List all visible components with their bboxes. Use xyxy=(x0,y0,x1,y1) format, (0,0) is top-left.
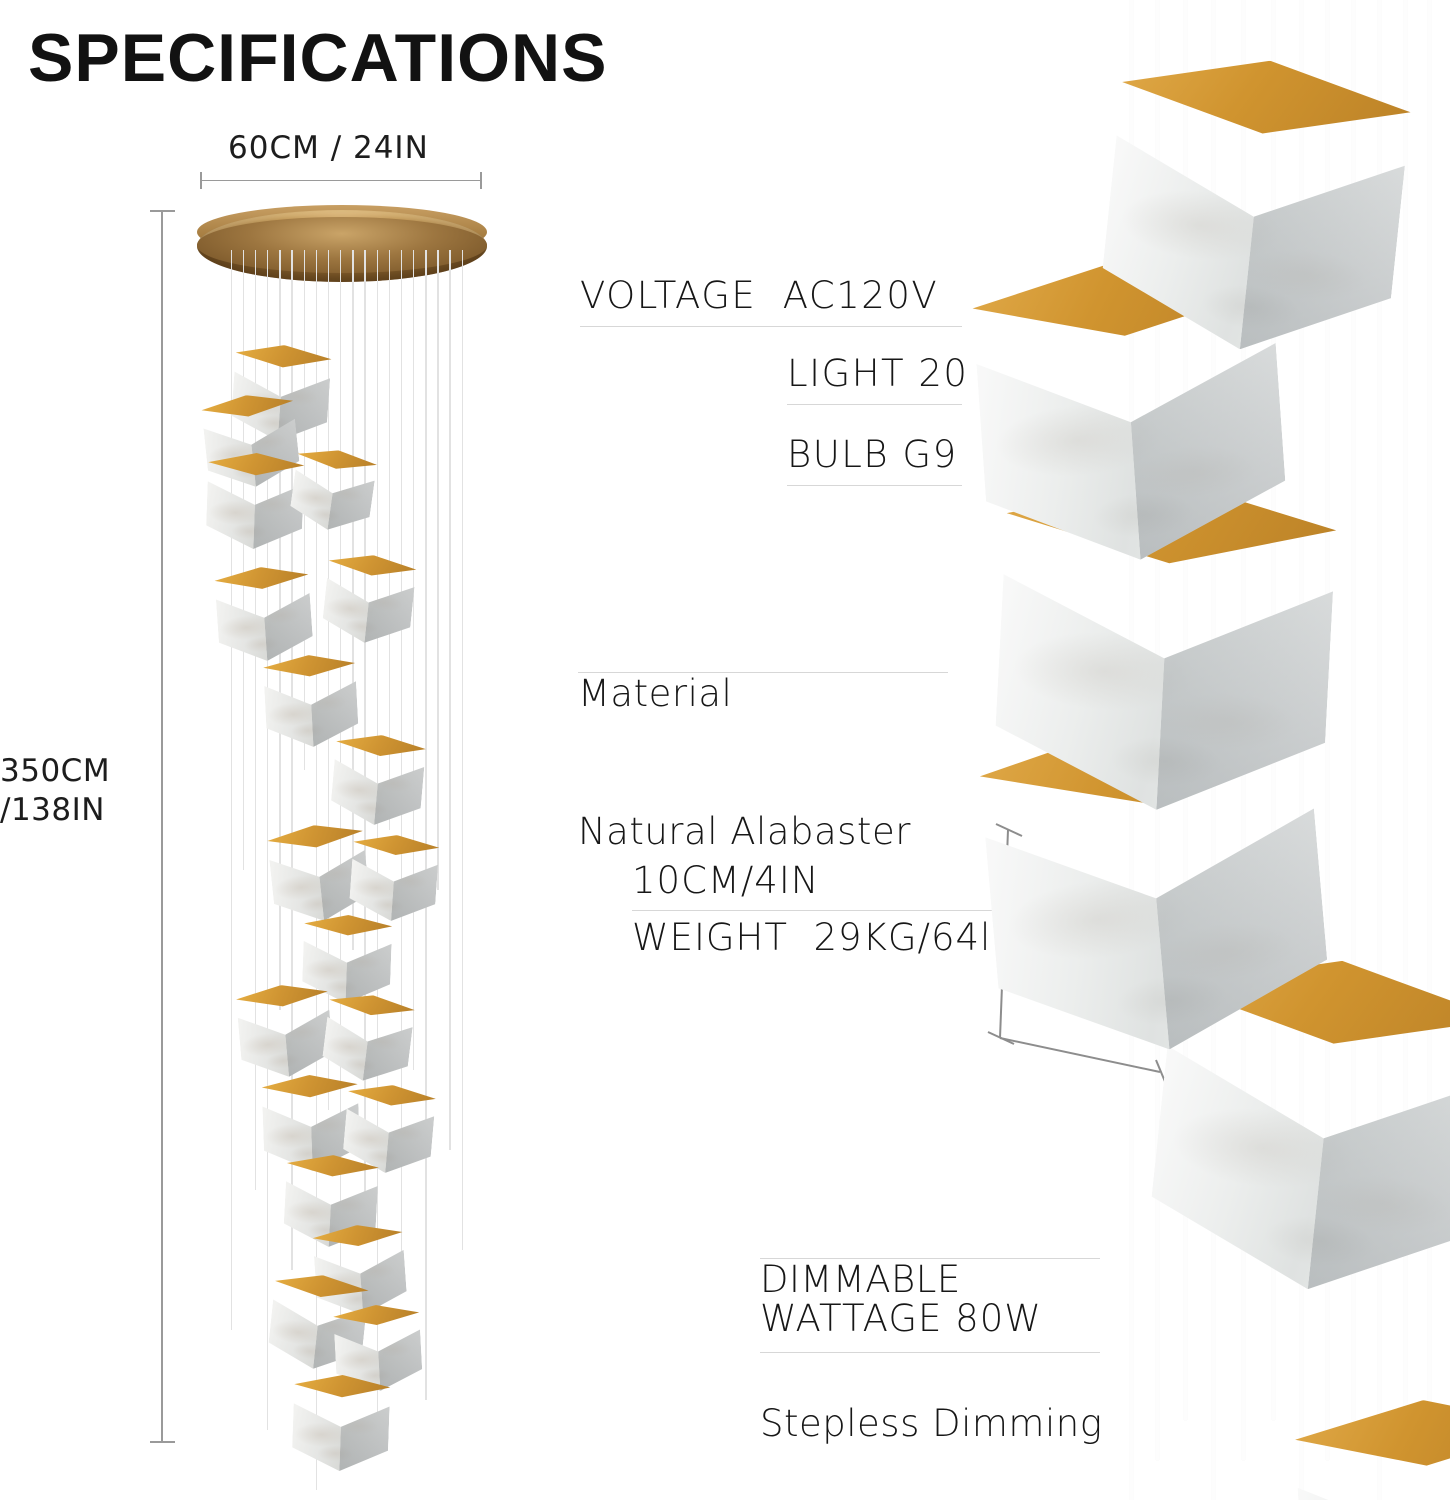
height-dimension-label: 350CM /138IN xyxy=(0,752,110,830)
cube-gold-cap xyxy=(261,1073,358,1115)
spec-material-rule xyxy=(578,672,948,673)
canopy-underside xyxy=(197,217,487,273)
alabaster-cube xyxy=(329,731,427,829)
chandelier-diagram xyxy=(175,195,535,1455)
width-dimension-label: 60CM / 24IN xyxy=(228,130,429,166)
cube-gold-cap xyxy=(1293,1393,1450,1500)
alabaster-cube xyxy=(320,990,416,1086)
spec-cube-size: 10CM/4IN xyxy=(632,859,819,902)
spec-material-label: Material xyxy=(578,671,911,717)
width-dimension-bracket xyxy=(200,180,482,181)
cube-shadow-face xyxy=(327,465,376,536)
alabaster-cube-large xyxy=(1293,1393,1450,1500)
cord xyxy=(413,250,414,1070)
cord xyxy=(425,250,426,1400)
cube-gold-cap xyxy=(286,1153,380,1195)
cube-gold-cap xyxy=(263,653,357,695)
alabaster-cube xyxy=(288,445,378,535)
cube-shadow-face xyxy=(374,751,425,828)
spec-cube-size-rule xyxy=(632,910,992,911)
cube-shadow-face xyxy=(391,851,439,924)
alabaster-cube xyxy=(291,1373,390,1472)
cube-gold-cap xyxy=(303,913,392,951)
cube-shadow-face xyxy=(1240,113,1409,365)
cord xyxy=(449,250,450,1150)
spec-voltage-rule xyxy=(580,326,962,327)
alabaster-cube xyxy=(348,832,440,924)
spec-voltage: VOLTAGE AC120V xyxy=(580,274,938,317)
cube-shadow-face xyxy=(339,1392,390,1472)
alabaster-cube xyxy=(235,981,335,1081)
specification-page: SPECIFICATIONS 60CM / 24IN 350CM /138IN … xyxy=(0,0,1450,1500)
cube-gold-cap xyxy=(333,1303,421,1342)
cube-gold-cap xyxy=(293,1373,390,1415)
spec-light: LIGHT 20 xyxy=(787,352,968,395)
cord xyxy=(437,250,438,890)
height-dimension-bracket xyxy=(161,210,163,1443)
cube-shadow-face xyxy=(1156,540,1335,819)
alabaster-cube xyxy=(214,564,314,664)
cube-shadow-face xyxy=(385,1101,435,1177)
product-photo xyxy=(960,0,1450,1500)
cube-shadow-face xyxy=(363,1011,414,1086)
alabaster-cube xyxy=(321,551,418,648)
spec-material-value: Natural Alabaster xyxy=(578,809,911,855)
cube-shadow-face xyxy=(364,571,415,647)
cube-shadow-face xyxy=(262,581,314,661)
cube-gold-cap xyxy=(207,451,304,493)
alabaster-cube-large xyxy=(1096,46,1415,365)
cord xyxy=(462,250,463,1250)
spec-bulb-rule xyxy=(787,485,962,486)
cube-shadow-face xyxy=(1308,1020,1450,1306)
spec-bulb: BULB G9 xyxy=(787,433,958,476)
alabaster-cube xyxy=(205,451,304,550)
page-title: SPECIFICATIONS xyxy=(28,24,607,92)
spec-light-rule xyxy=(787,404,962,405)
